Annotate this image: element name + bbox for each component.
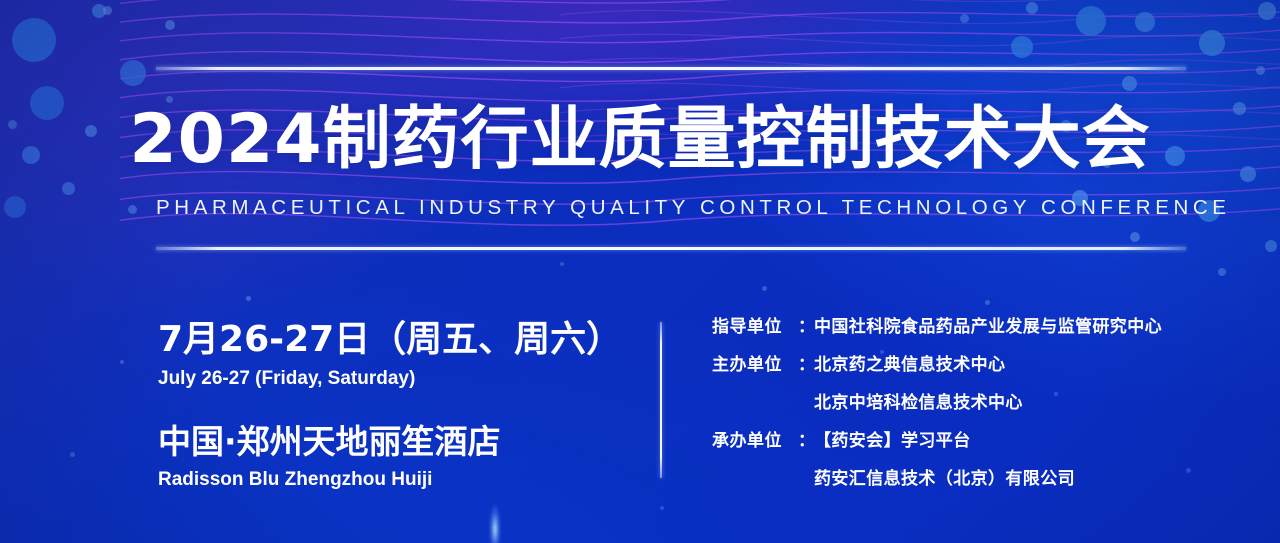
- organizer-value: 药安汇信息技术（北京）有限公司: [814, 468, 1232, 490]
- vertical-divider: [660, 322, 662, 478]
- organizer-row: 主办单位 ： 北京药之典信息技术中心: [712, 354, 1232, 376]
- event-details-left: 7月26-27日（周五、周六） July 26-27 (Friday, Satu…: [158, 318, 628, 492]
- organizer-list: 指导单位 ： 中国社科院食品药品产业发展与监管研究中心 主办单位 ： 北京药之典…: [712, 316, 1232, 490]
- organizer-row: 指导单位 ： 中国社科院食品药品产业发展与监管研究中心: [712, 316, 1232, 338]
- organizer-value: 北京中培科检信息技术中心: [814, 392, 1232, 414]
- organizer-value: 中国社科院食品药品产业发展与监管研究中心: [814, 316, 1232, 338]
- conference-banner: 2024制药行业质量控制技术大会 PHARMACEUTICAL INDUSTRY…: [0, 0, 1280, 543]
- page-title: 2024制药行业质量控制技术大会: [0, 103, 1280, 177]
- organizer-value: 【药安会】学习平台: [814, 430, 1232, 452]
- event-venue-cn: 中国·郑州天地丽笙酒店: [158, 421, 628, 463]
- organizer-colon: ：: [798, 354, 814, 376]
- organizer-label: 主办单位: [712, 354, 798, 376]
- organizer-label: 指导单位: [712, 316, 798, 338]
- organizer-row: 药安汇信息技术（北京）有限公司: [712, 468, 1232, 490]
- organizer-row: 北京中培科检信息技术中心: [712, 392, 1232, 414]
- organizer-row: 承办单位 ： 【药安会】学习平台: [712, 430, 1232, 452]
- event-date-cn: 7月26-27日（周五、周六）: [158, 318, 628, 362]
- organizer-label: 承办单位: [712, 430, 798, 452]
- divider-line-top: [156, 67, 1186, 70]
- divider-line-bottom: [156, 247, 1186, 250]
- organizer-value: 北京药之典信息技术中心: [814, 354, 1232, 376]
- page-subtitle-english: PHARMACEUTICAL INDUSTRY QUALITY CONTROL …: [156, 196, 1186, 220]
- organizer-colon: ：: [798, 316, 814, 338]
- event-date-en: July 26-27 (Friday, Saturday): [158, 367, 628, 391]
- event-venue-en: Radisson Blu Zhengzhou Huiji: [158, 468, 628, 492]
- banner-content: 2024制药行业质量控制技术大会 PHARMACEUTICAL INDUSTRY…: [0, 0, 1280, 543]
- organizer-colon: ：: [798, 430, 814, 452]
